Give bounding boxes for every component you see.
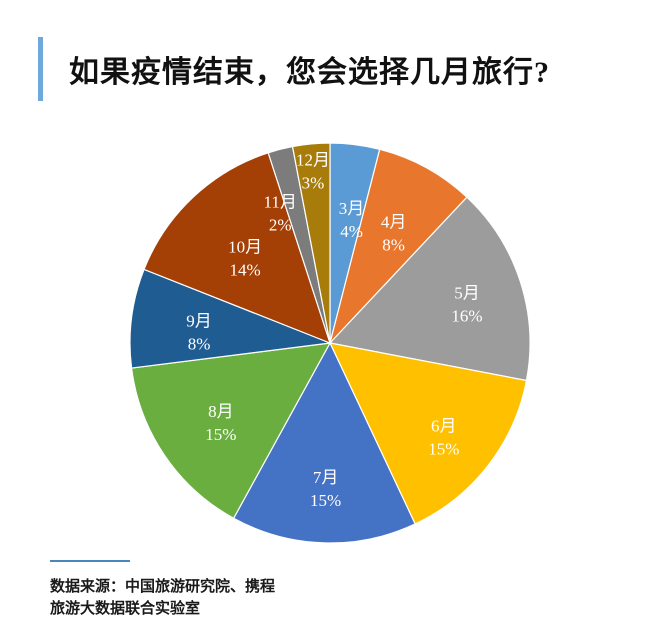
pie-slice-value-5月: 16%	[451, 307, 482, 326]
title-block: 如果疫情结束，您会选择几月旅行?	[38, 36, 638, 102]
pie-slice-value-11月: 2%	[269, 216, 292, 235]
pie-slice-value-8月: 15%	[205, 425, 236, 444]
pie-slice-label-8月: 8月	[208, 402, 234, 421]
pie-slice-label-4月: 4月	[381, 212, 407, 231]
pie-slice-label-10月: 10月	[228, 238, 262, 257]
pie-slice-value-6月: 15%	[428, 439, 459, 458]
pie-slice-value-9月: 8%	[188, 334, 211, 353]
pie-slice-label-5月: 5月	[454, 284, 480, 303]
footer-source-line-2: 旅游大数据联合实验室	[50, 598, 610, 620]
pie-chart-svg: 3月4%4月8%5月16%6月15%7月15%8月15%9月8%10月14%11…	[0, 130, 670, 550]
pie-slice-label-12月: 12月	[296, 151, 330, 170]
footer-divider	[50, 560, 130, 562]
pie-slice-value-12月: 3%	[302, 174, 325, 193]
pie-slice-label-9月: 9月	[186, 311, 212, 330]
pie-slice-label-11月: 11月	[264, 193, 297, 212]
pie-slice-value-3月: 4%	[340, 222, 363, 241]
pie-slice-label-6月: 6月	[431, 416, 457, 435]
pie-slice-label-7月: 7月	[313, 468, 339, 487]
pie-slice-value-7月: 15%	[310, 491, 341, 510]
pie-slice-value-10月: 14%	[230, 261, 261, 280]
pie-slice-label-3月: 3月	[339, 199, 365, 218]
footer-block: 数据来源：中国旅游研究院、携程 旅游大数据联合实验室	[50, 560, 610, 620]
page-title: 如果疫情结束，您会选择几月旅行?	[69, 47, 550, 91]
title-accent-bar	[38, 37, 43, 101]
pie-chart: 3月4%4月8%5月16%6月15%7月15%8月15%9月8%10月14%11…	[0, 130, 670, 550]
pie-slice-value-4月: 8%	[382, 235, 405, 254]
footer-source-line-1: 数据来源：中国旅游研究院、携程	[50, 576, 610, 598]
